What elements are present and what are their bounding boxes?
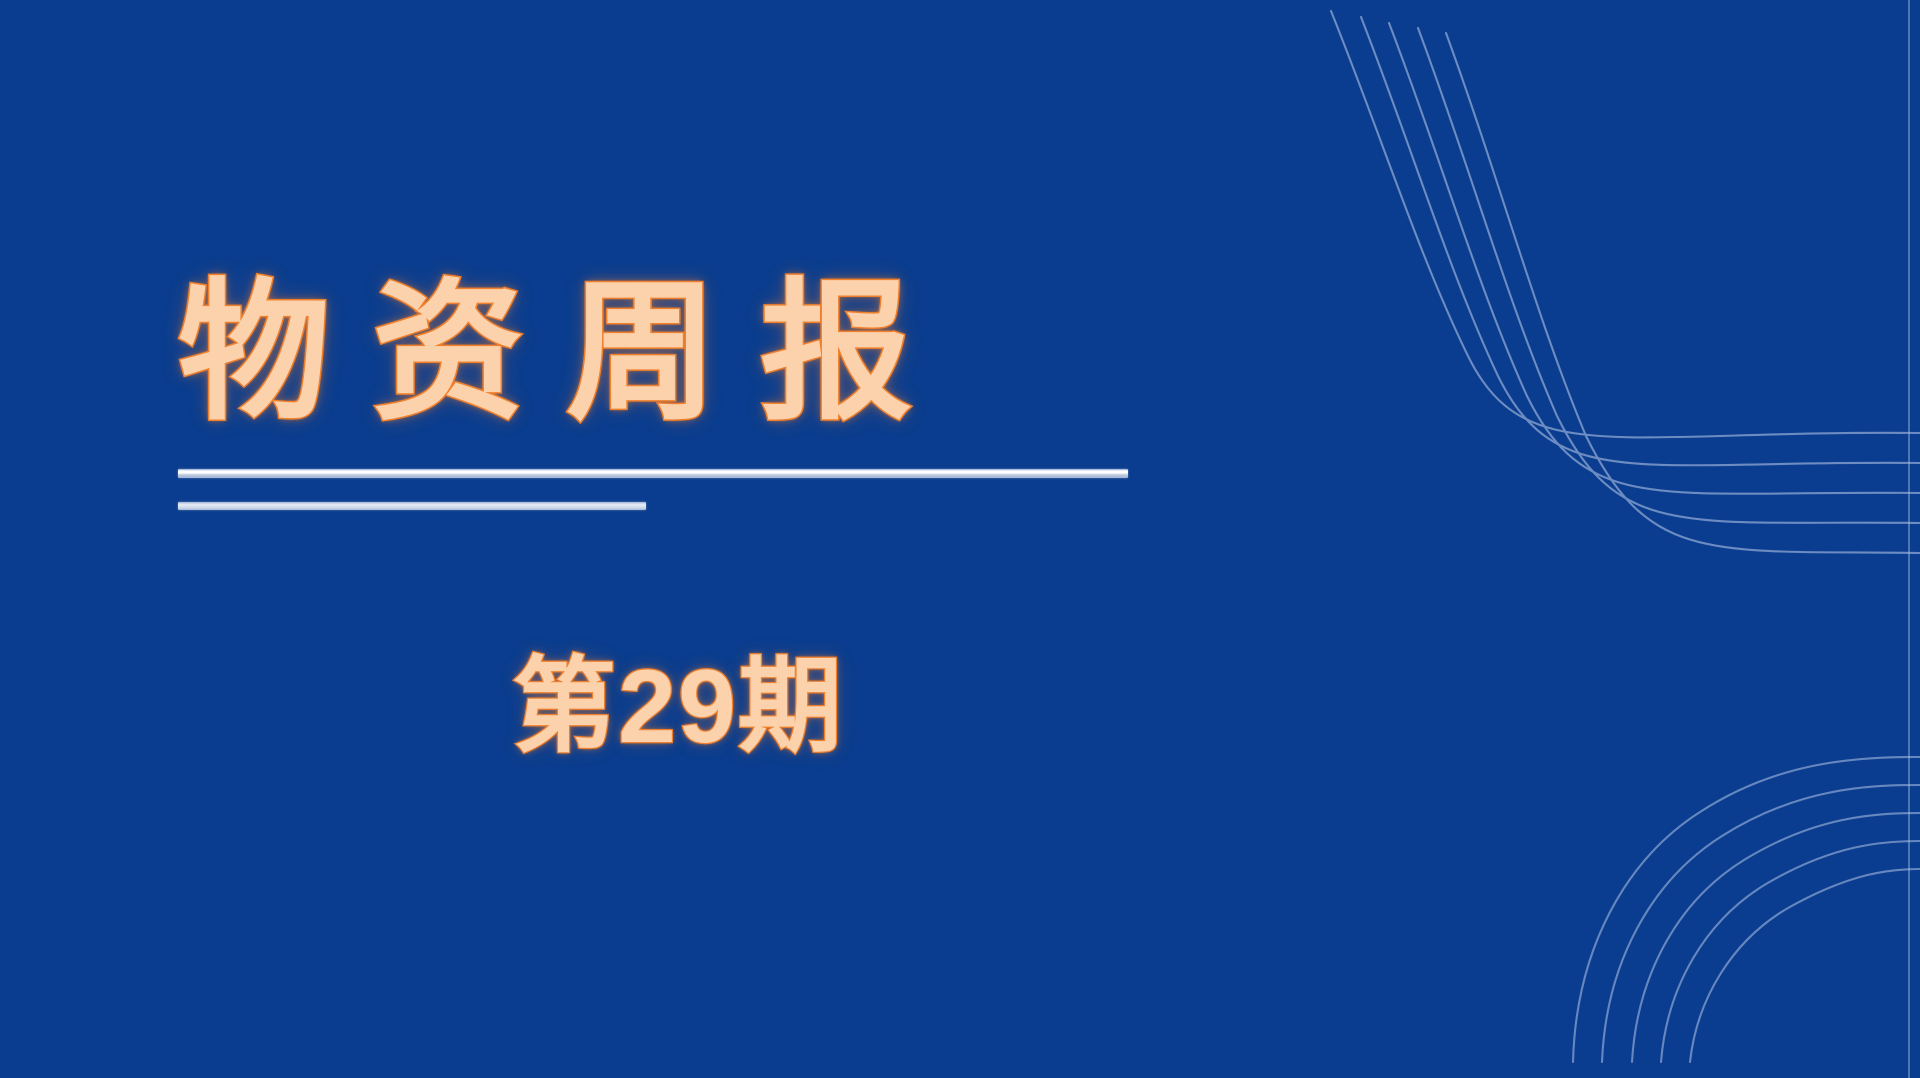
title-block: 物资周报 bbox=[178, 268, 1178, 510]
bottom-right-arcs-decoration bbox=[0, 0, 1920, 1078]
right-edge-line bbox=[1908, 0, 1910, 1078]
title-rule-secondary bbox=[178, 502, 646, 510]
issue-number-label: 第29期 bbox=[512, 650, 844, 764]
title-rule-primary bbox=[178, 469, 1128, 478]
top-right-swoosh-decoration bbox=[0, 0, 1920, 1078]
title-slide: 物资周报 第29期 bbox=[0, 0, 1920, 1078]
page-title: 物资周报 bbox=[178, 268, 1178, 438]
subtitle-block: 第29期 bbox=[178, 650, 1178, 764]
